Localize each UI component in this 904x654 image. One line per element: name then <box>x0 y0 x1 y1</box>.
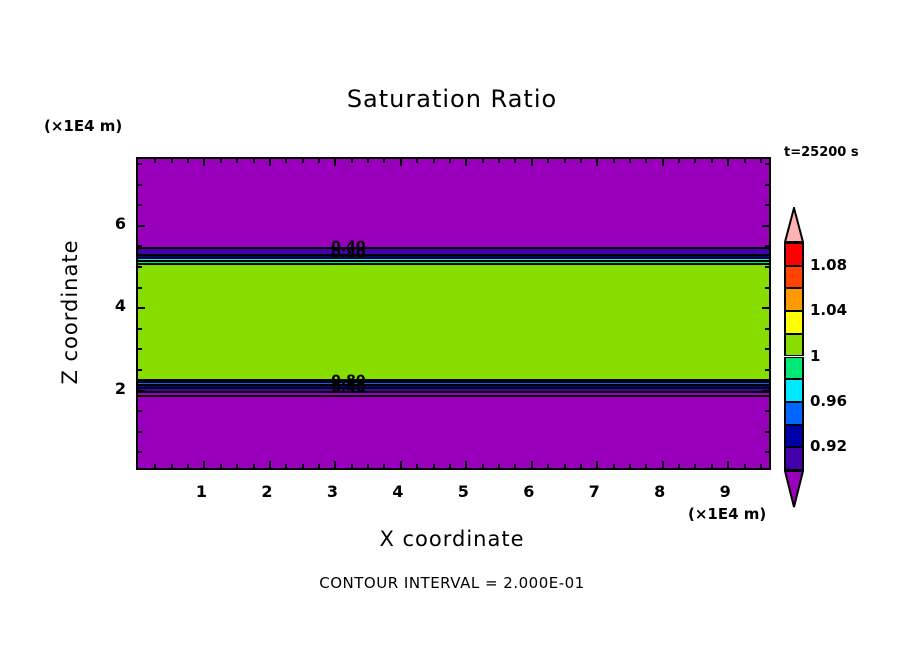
x-tick-label: 3 <box>312 482 352 501</box>
colorbar-top-arrow <box>784 207 804 243</box>
x-tick <box>416 464 418 468</box>
colorbar-segment <box>784 402 804 425</box>
x-tick-top <box>465 159 467 166</box>
x-tick-top <box>694 159 696 163</box>
contour-line <box>138 257 769 259</box>
x-tick <box>318 464 320 468</box>
x-tick <box>596 461 598 468</box>
x-tick-top <box>744 159 746 163</box>
x-tick <box>253 464 255 468</box>
y-tick-right <box>765 184 769 186</box>
y-tick-label: 2 <box>86 379 126 398</box>
x-tick <box>678 464 680 468</box>
x-tick-top <box>596 159 598 166</box>
contour-bands <box>138 159 769 468</box>
contour-line <box>138 254 769 256</box>
x-tick-top <box>302 159 304 163</box>
x-tick-top <box>613 159 615 163</box>
page-title: Saturation Ratio <box>0 85 904 113</box>
y-tick <box>138 431 142 433</box>
x-tick <box>383 464 385 468</box>
x-tick <box>203 461 205 468</box>
colorbar-tick-label: 1 <box>810 347 820 365</box>
colorbar-segment <box>784 311 804 334</box>
y-tick-label: 4 <box>86 296 126 315</box>
contour-label: 0.80 <box>331 246 366 262</box>
x-tick <box>629 464 631 468</box>
contour-plot-area: 0.400.800.800.40 <box>136 157 771 470</box>
y-axis-unit-label: (×1E4 m) <box>44 117 122 135</box>
x-tick-top <box>383 159 385 163</box>
x-tick-top <box>171 159 173 163</box>
contour-band <box>138 264 769 380</box>
x-tick-label: 4 <box>378 482 418 501</box>
contour-line <box>138 260 769 262</box>
y-tick-right <box>765 328 769 330</box>
x-tick-top <box>580 159 582 163</box>
x-tick-label: 1 <box>181 482 221 501</box>
contour-band <box>138 159 769 248</box>
x-axis-title: X coordinate <box>0 527 904 551</box>
colorbar <box>784 207 804 507</box>
y-tick <box>138 451 142 453</box>
y-tick-right <box>765 451 769 453</box>
x-tick <box>220 464 222 468</box>
contour-line <box>138 379 769 381</box>
x-tick <box>302 464 304 468</box>
y-tick <box>138 369 142 371</box>
contour-line <box>138 263 769 265</box>
x-tick-top <box>367 159 369 163</box>
x-tick-top <box>203 159 205 166</box>
x-tick-top <box>645 159 647 163</box>
y-tick-label: 6 <box>86 214 126 233</box>
x-tick-top <box>662 159 664 166</box>
colorbar-segment <box>784 243 804 266</box>
x-tick-label: 2 <box>247 482 287 501</box>
x-tick <box>580 464 582 468</box>
x-tick-label: 9 <box>705 482 745 501</box>
colorbar-tick-label: 0.92 <box>810 437 847 455</box>
x-tick-top <box>416 159 418 163</box>
colorbar-segment <box>784 288 804 311</box>
y-tick <box>138 287 142 289</box>
y-tick <box>138 266 142 268</box>
colorbar-segment <box>784 357 804 380</box>
x-tick <box>514 464 516 468</box>
x-tick-label: 6 <box>509 482 549 501</box>
colorbar-segment <box>784 447 804 470</box>
x-tick-top <box>253 159 255 163</box>
x-tick-top <box>433 159 435 163</box>
x-tick <box>498 464 500 468</box>
x-tick-top <box>498 159 500 163</box>
contour-line <box>138 387 769 389</box>
x-tick <box>433 464 435 468</box>
y-tick <box>138 245 142 247</box>
x-tick-top <box>187 159 189 163</box>
x-tick <box>662 461 664 468</box>
x-tick-top <box>564 159 566 163</box>
y-tick <box>138 307 145 309</box>
x-tick <box>285 464 287 468</box>
x-tick <box>727 461 729 468</box>
y-tick-right <box>765 163 769 165</box>
contour-line <box>138 395 769 397</box>
y-tick-right <box>765 348 769 350</box>
y-tick <box>138 328 142 330</box>
y-tick <box>138 225 145 227</box>
x-tick-label: 7 <box>574 482 614 501</box>
colorbar-segment <box>784 266 804 289</box>
contour-line <box>138 384 769 386</box>
y-tick-right <box>765 266 769 268</box>
contour-line <box>138 391 769 393</box>
x-tick <box>645 464 647 468</box>
x-tick-top <box>285 159 287 163</box>
x-tick-top <box>220 159 222 163</box>
x-tick-top <box>531 159 533 166</box>
x-tick-top <box>760 159 762 163</box>
x-tick <box>744 464 746 468</box>
colorbar-segment <box>784 379 804 402</box>
x-axis-unit-label: (×1E4 m) <box>688 505 766 523</box>
x-tick-top <box>334 159 336 166</box>
x-tick <box>351 464 353 468</box>
x-tick-top <box>154 159 156 163</box>
x-tick <box>547 464 549 468</box>
y-tick <box>138 184 142 186</box>
x-tick-top <box>547 159 549 163</box>
x-tick <box>187 464 189 468</box>
x-tick <box>171 464 173 468</box>
colorbar-tick-label: 1.08 <box>810 256 847 274</box>
y-tick-right <box>762 225 769 227</box>
y-tick-right <box>762 390 769 392</box>
x-tick-top <box>514 159 516 163</box>
contour-band <box>138 396 769 470</box>
y-tick <box>138 410 142 412</box>
x-tick <box>367 464 369 468</box>
x-tick <box>236 464 238 468</box>
y-tick-right <box>765 410 769 412</box>
x-tick <box>449 464 451 468</box>
x-tick <box>400 461 402 468</box>
colorbar-tick-label: 0.96 <box>810 392 847 410</box>
x-tick-top <box>629 159 631 163</box>
y-tick-right <box>765 369 769 371</box>
y-axis-title: Z coordinate <box>58 212 82 412</box>
x-tick <box>711 464 713 468</box>
y-tick-right <box>765 245 769 247</box>
x-tick-top <box>318 159 320 163</box>
x-tick-label: 8 <box>640 482 680 501</box>
y-tick-right <box>765 287 769 289</box>
y-tick <box>138 348 142 350</box>
y-tick-right <box>765 204 769 206</box>
x-tick <box>482 464 484 468</box>
x-tick <box>269 461 271 468</box>
x-tick <box>613 464 615 468</box>
x-tick-top <box>236 159 238 163</box>
x-tick-top <box>711 159 713 163</box>
x-tick <box>465 461 467 468</box>
contour-line <box>138 381 769 383</box>
contour-interval-caption: CONTOUR INTERVAL = 2.000E-01 <box>0 574 904 592</box>
y-tick-right <box>762 307 769 309</box>
colorbar-segment <box>784 334 804 357</box>
x-tick-top <box>482 159 484 163</box>
x-tick-top <box>678 159 680 163</box>
x-tick-top <box>400 159 402 166</box>
x-tick <box>334 461 336 468</box>
x-tick <box>154 464 156 468</box>
x-tick-top <box>727 159 729 166</box>
x-tick-top <box>269 159 271 166</box>
x-tick <box>531 461 533 468</box>
colorbar-tick-label: 1.04 <box>810 301 847 319</box>
y-tick <box>138 390 145 392</box>
y-tick <box>138 163 142 165</box>
x-tick <box>760 464 762 468</box>
y-tick <box>138 204 142 206</box>
x-tick-top <box>351 159 353 163</box>
contour-line <box>138 247 769 249</box>
x-tick <box>564 464 566 468</box>
contour-label: 0.40 <box>331 380 366 396</box>
x-tick-label: 5 <box>443 482 483 501</box>
x-tick-top <box>449 159 451 163</box>
colorbar-segment <box>784 425 804 448</box>
timestamp-annotation: t=25200 s <box>784 145 859 160</box>
x-tick <box>694 464 696 468</box>
y-tick-right <box>765 431 769 433</box>
colorbar-bottom-arrow <box>784 470 804 508</box>
